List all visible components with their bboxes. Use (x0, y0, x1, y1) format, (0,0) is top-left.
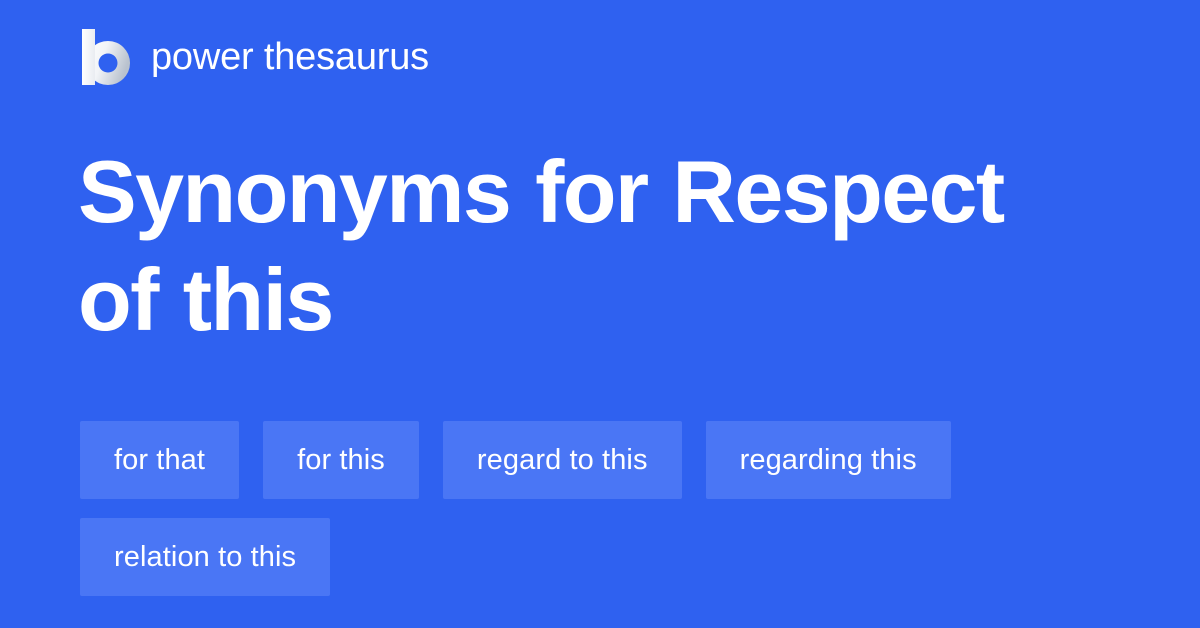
brand-header[interactable]: power thesaurus (80, 28, 429, 86)
synonym-list: for that for this regard to this regardi… (80, 421, 1140, 596)
synonym-chip[interactable]: for this (263, 421, 419, 499)
synonym-chip[interactable]: regard to this (443, 421, 682, 499)
synonym-chip[interactable]: relation to this (80, 518, 330, 596)
page-title: Synonyms for Respect of this (78, 138, 1088, 354)
synonym-chip[interactable]: regarding this (706, 421, 951, 499)
share-card: power thesaurus Synonyms for Respect of … (0, 0, 1200, 628)
power-thesaurus-b-logo-icon (80, 29, 132, 85)
brand-wordmark: power thesaurus (151, 36, 429, 78)
synonym-chip[interactable]: for that (80, 421, 239, 499)
